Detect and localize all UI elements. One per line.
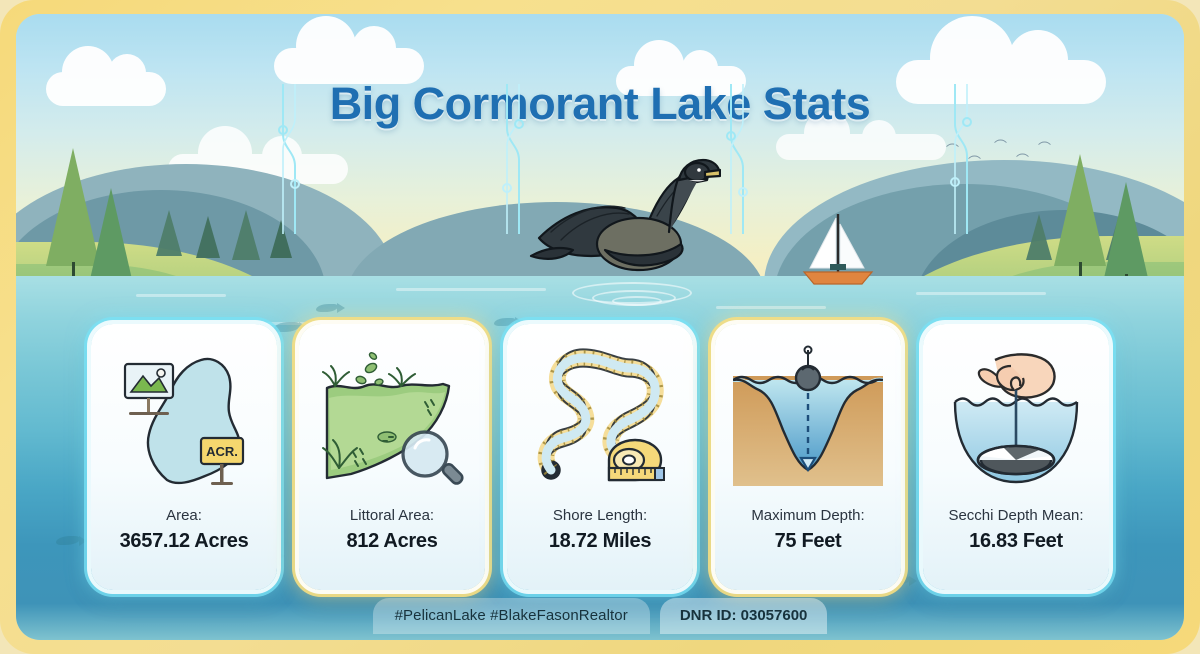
card-connector [502,84,524,234]
pine-tree-icon [196,216,220,258]
stat-card-area[interactable]: ACR. Area: 3657.12 Acres [91,324,277,590]
flying-bird-icon: ⌒ [1038,142,1051,155]
cormorant-bird [521,146,721,296]
stat-label: Area: [166,508,202,525]
flying-bird-icon: ⌒ [994,140,1007,153]
infographic-stage: ⌒ ⌒ ⌒ ⌒ ⌒ Big Cor [16,14,1184,640]
secchi-disk-hand-icon [941,342,1091,492]
lake-outline-map-icon: ACR. [109,342,259,492]
stat-value: 812 Acres [346,530,437,552]
page-title: Big Cormorant Lake Stats [16,78,1184,130]
stat-card-littoral-area[interactable]: Littoral Area: 812 Acres [299,324,485,590]
stats-card-row: ACR. Area: 3657.12 Acres [16,324,1184,590]
pine-tree-icon [1054,154,1106,294]
stat-card-secchi-depth[interactable]: Secchi Depth Mean: 16.83 Feet [923,324,1109,590]
stat-label: Littoral Area: [350,508,434,525]
infographic-frame: ⌒ ⌒ ⌒ ⌒ ⌒ Big Cor [0,0,1200,654]
card-connector [950,84,972,234]
footer-bar: #PelicanLake #BlakeFasonRealtor DNR ID: … [16,598,1184,634]
stat-label: Secchi Depth Mean: [948,508,1083,525]
water-ripple [612,296,662,306]
stat-label: Shore Length: [553,508,647,525]
dnr-id-badge: DNR ID: 03057600 [660,598,828,634]
stat-value: 18.72 Miles [549,530,651,552]
littoral-zone-magnifier-icon [317,342,467,492]
cloud [776,134,946,160]
sailboat [794,210,880,294]
pine-tree-icon [156,210,182,256]
lake-depth-cross-section-icon [733,342,883,492]
stat-value: 16.83 Feet [969,530,1063,552]
pine-tree-icon [232,210,260,260]
pine-tree-icon [1026,214,1052,260]
stat-card-maximum-depth[interactable]: Maximum Depth: 75 Feet [715,324,901,590]
measuring-tape-shoreline-icon [525,342,675,492]
flying-bird-icon: ⌒ [1016,154,1029,167]
acr-sign-text: ACR. [206,444,238,459]
hashtags: #PelicanLake #BlakeFasonRealtor [373,598,650,634]
fish-silhouette [316,304,338,312]
stat-card-shore-length[interactable]: Shore Length: 18.72 Miles [507,324,693,590]
stat-value: 75 Feet [775,530,842,552]
stat-label: Maximum Depth: [751,508,864,525]
stat-value: 3657.12 Acres [120,530,249,552]
card-connector [278,84,300,234]
card-connector [726,84,748,234]
